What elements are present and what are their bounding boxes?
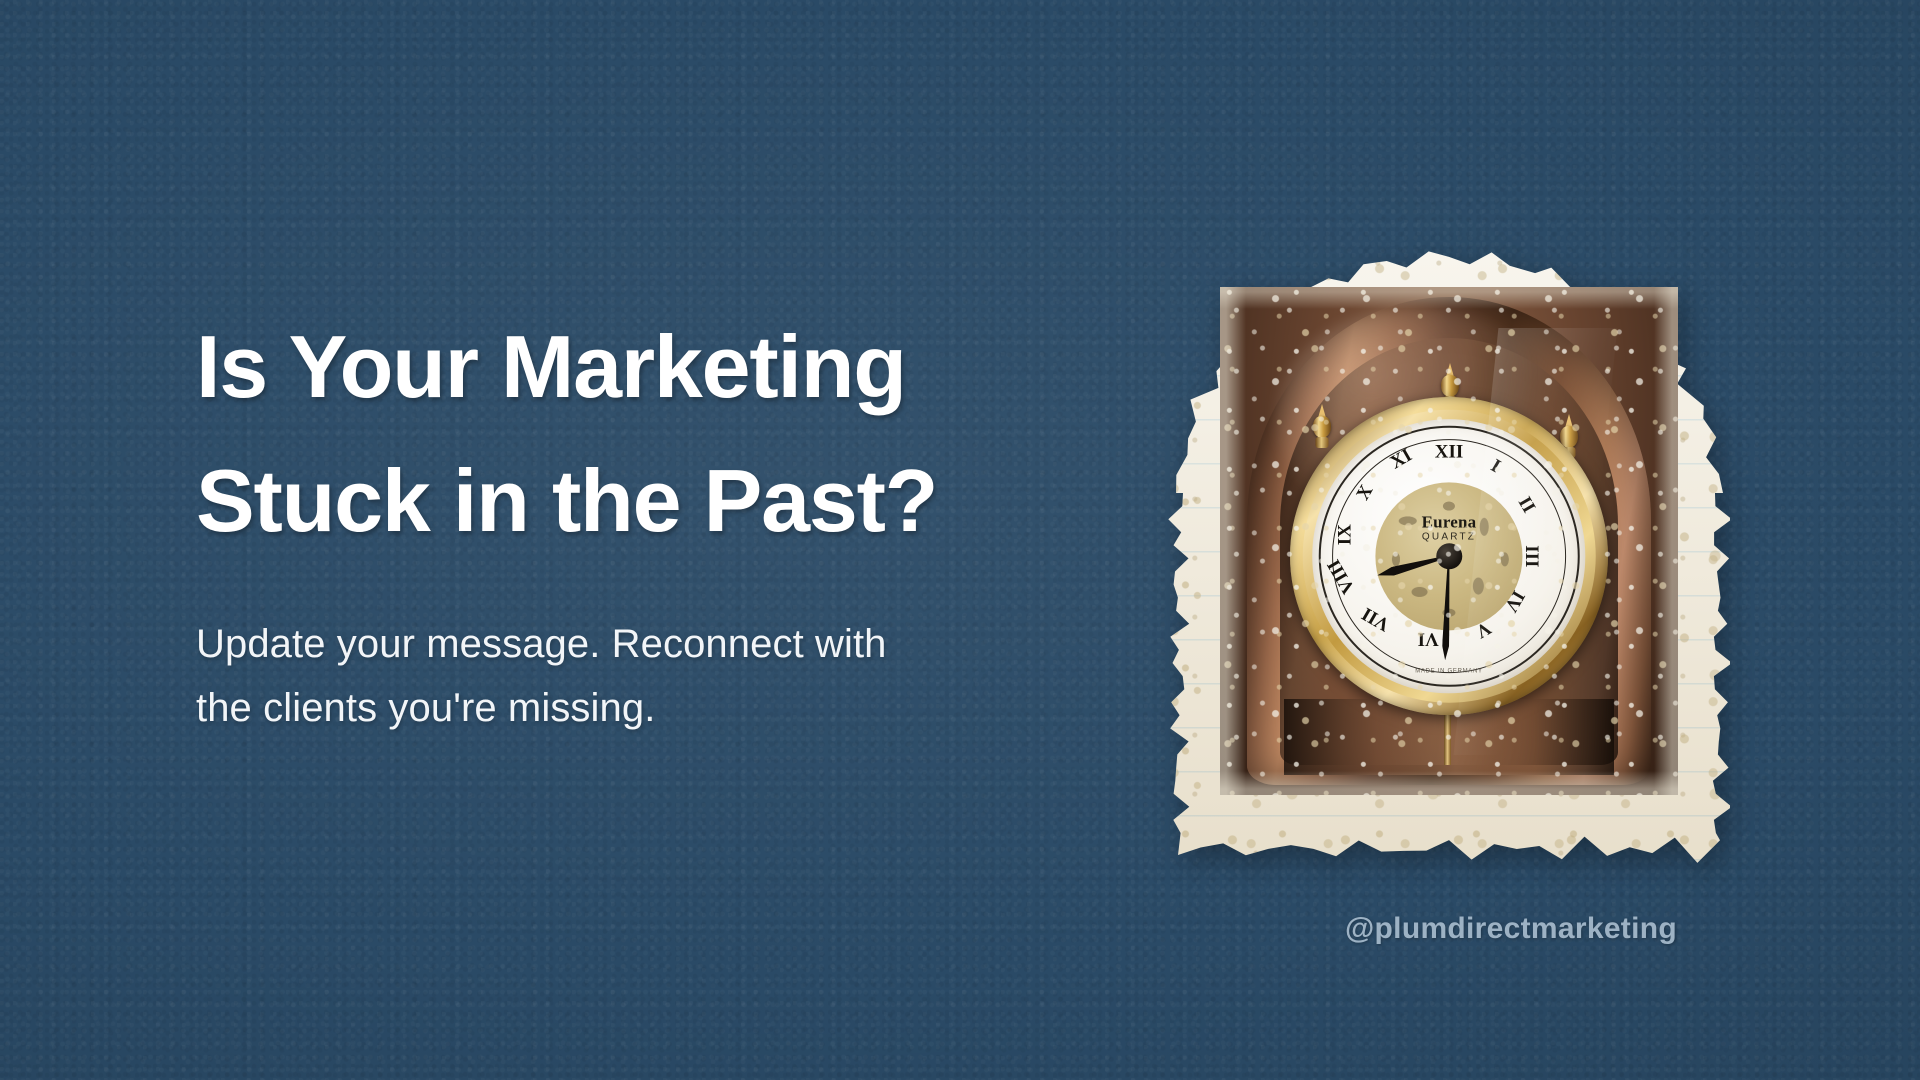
numeral-x: X xyxy=(1352,481,1378,504)
numeral-xii: XII xyxy=(1435,441,1464,463)
social-handle: @plumdirectmarketing xyxy=(1345,912,1677,946)
page-title: Is Your Marketing Stuck in the Past? xyxy=(196,300,1126,568)
numeral-vi: VI xyxy=(1417,627,1438,649)
copy-block: Is Your Marketing Stuck in the Past? Upd… xyxy=(196,300,1126,741)
clock-brand-sub: QUARTZ xyxy=(1375,531,1523,542)
made-in-label: MADE IN GERMANY xyxy=(1312,668,1585,674)
headline-line-2: Stuck in the Past? xyxy=(196,434,1126,568)
numeral-ix: IX xyxy=(1335,524,1357,545)
numeral-xi: XI xyxy=(1386,445,1415,475)
subtitle: Update your message. Reconnect with the … xyxy=(196,612,1126,742)
subtitle-line-1: Update your message. Reconnect with xyxy=(196,612,1126,677)
photo-inner: XIIIIIIIIIVVVIVIIVIIIIXXXI Eurena QUARTZ… xyxy=(1220,287,1678,795)
headline-line-1: Is Your Marketing xyxy=(196,300,1126,434)
numeral-i: I xyxy=(1486,455,1503,478)
torn-paper-photo: XIIIIIIIIIVVVIVIIVIIIIXXXI Eurena QUARTZ… xyxy=(1168,243,1730,867)
clock-brand: Eurena xyxy=(1375,512,1523,532)
subtitle-line-2: the clients you're missing. xyxy=(196,676,1126,741)
dial-face: XIIIIIIIIIVVVIVIIVIIIIXXXI Eurena QUARTZ… xyxy=(1312,420,1585,693)
clock-photograph: XIIIIIIIIIVVVIVIIVIIIIXXXI Eurena QUARTZ… xyxy=(1220,287,1678,795)
numeral-viii: VIII xyxy=(1323,555,1360,597)
clock-dial: XIIIIIIIIIVVVIVIIVIIIIXXXI Eurena QUARTZ… xyxy=(1290,397,1608,715)
numeral-iii: III xyxy=(1520,545,1542,567)
hand-center-cap xyxy=(1436,543,1462,569)
poster-canvas: Is Your Marketing Stuck in the Past? Upd… xyxy=(0,0,1920,1080)
